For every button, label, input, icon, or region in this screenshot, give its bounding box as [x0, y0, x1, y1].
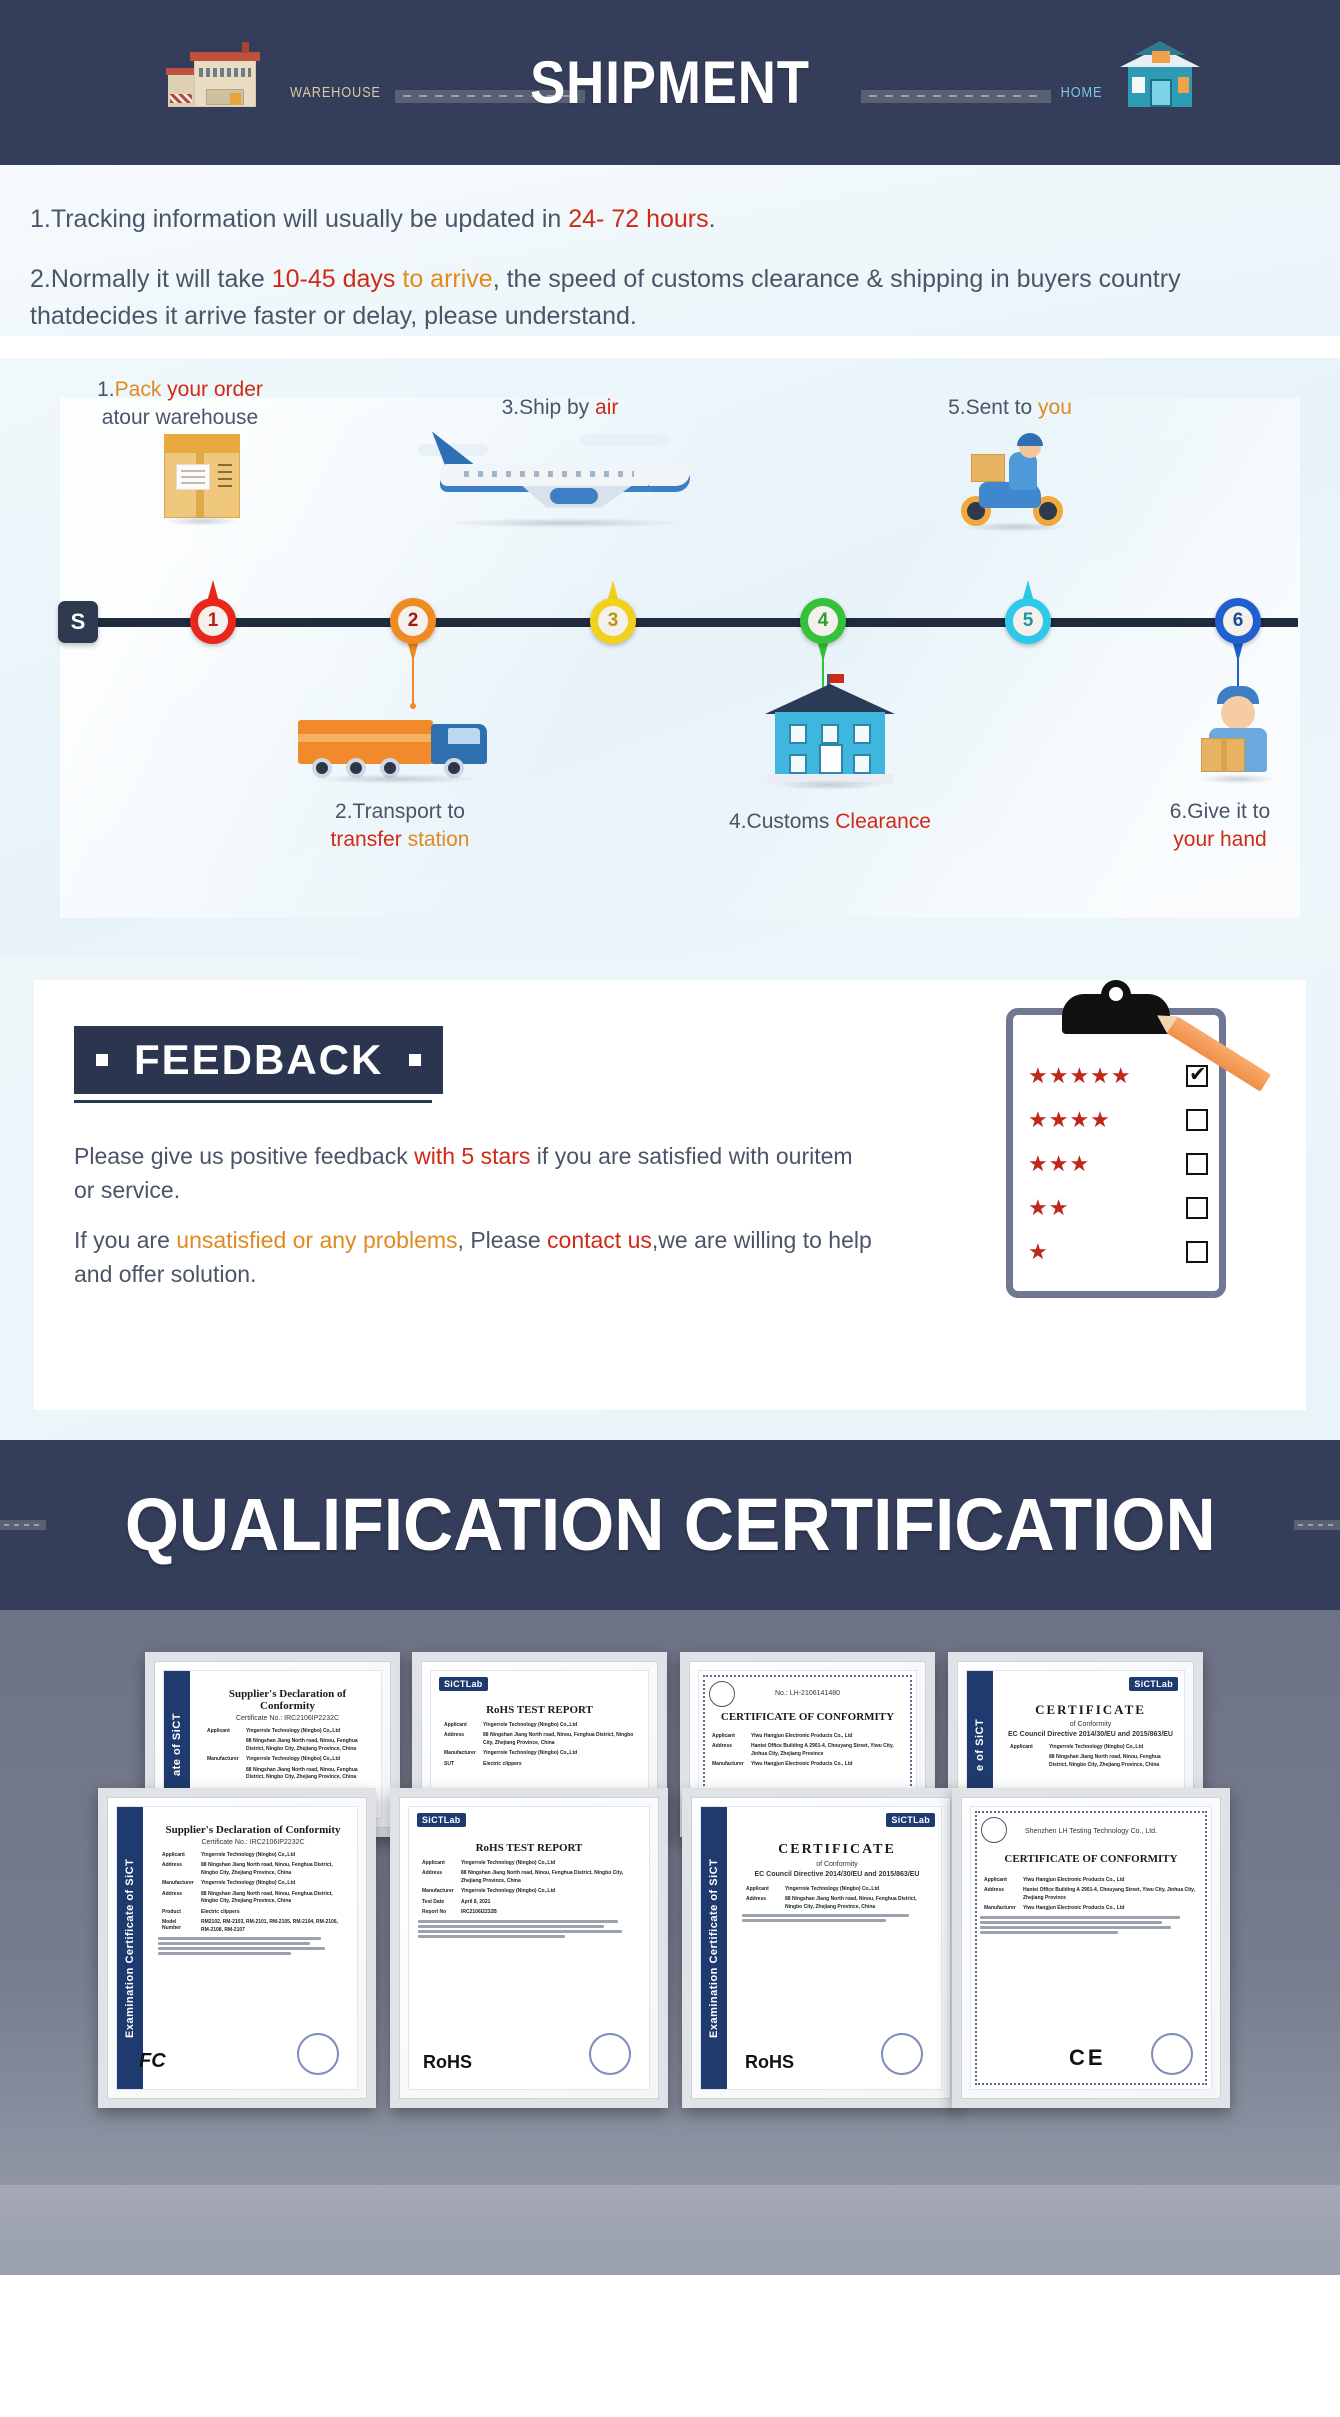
stars-2-icon: ★★ — [1028, 1195, 1069, 1221]
cert-key: Applicant — [444, 1722, 478, 1730]
feedback-card: FEEDBACK Please give us positive feedbac… — [34, 980, 1306, 1410]
truck-illustration — [298, 710, 493, 778]
delivery-text-prefix: 2.Normally it will take — [30, 265, 272, 293]
feedback-section: FEEDBACK Please give us positive feedbac… — [0, 958, 1340, 1440]
step-2-red: transfer — [331, 828, 402, 851]
step-2-label: 2.Transport to transfer station — [270, 798, 530, 855]
sictlab-logo: SiCTLab — [439, 1677, 488, 1691]
parcel-box-illustration — [160, 434, 244, 520]
home-label: HOME — [1061, 84, 1103, 101]
pin-2-number: 2 — [398, 606, 428, 636]
cert-value: April 8, 2021 — [461, 1899, 490, 1907]
feedback-underline — [74, 1100, 432, 1103]
cert-key — [207, 1767, 241, 1782]
feedback-paragraph-1: Please give us positive feedback with 5 … — [74, 1139, 874, 1207]
cert-heading: CERTIFICATE — [742, 1842, 932, 1858]
cert-key: Address — [162, 1891, 196, 1906]
cert-key: Applicant — [162, 1852, 196, 1860]
cert-key: Applicant — [422, 1860, 456, 1868]
shipping-info-section: 1.Tracking information will usually be u… — [0, 165, 1340, 336]
certificate-card[interactable]: Examination Certificate of SiCT SiCTLab … — [682, 1788, 960, 2108]
cert-value: Yingerrole Technology (Ningbo) Co,.Ltd — [483, 1722, 577, 1730]
cert-key: Manufacturer — [422, 1888, 456, 1896]
certificate-card[interactable]: SiCTLab RoHS TEST REPORT ApplicantYinger… — [390, 1788, 668, 2108]
step-6-red: your hand — [1120, 826, 1320, 854]
pin-3-number: 3 — [598, 606, 628, 636]
step-4-text: 4.Customs — [729, 810, 835, 833]
fb-p2-red: contact us — [547, 1227, 652, 1253]
timeline-pin-3[interactable]: 3 — [590, 598, 636, 644]
certificates-gallery: ate of SiCT Supplier's Declaration of Co… — [0, 1610, 1340, 2275]
cert-key: SUT — [444, 1761, 478, 1769]
fb-p2-a: If you are — [74, 1227, 176, 1253]
cert-directive: EC Council Directive 2014/30/EU and 2015… — [742, 1871, 932, 1878]
fb-p2-orange: unsatisfied or any problems — [176, 1227, 457, 1253]
tracking-info-line: 1.Tracking information will usually be u… — [30, 201, 1310, 239]
tracking-text-prefix: 1.Tracking information will usually be u… — [30, 205, 568, 233]
timeline-start-marker: S — [58, 601, 98, 643]
cert-key: Address — [444, 1732, 478, 1747]
feedback-banner: FEEDBACK — [74, 1026, 443, 1094]
cert-value: Yingerrole Technology (Ningbo) Co,.Ltd — [483, 1750, 577, 1758]
timeline-pin-6[interactable]: 6 — [1215, 598, 1261, 644]
delivery-arrive-highlight: to arrive — [395, 265, 492, 293]
rating-row[interactable]: ★★★★★ — [1028, 1054, 1208, 1098]
cert-key: Manufacturer — [207, 1756, 241, 1764]
sictlab-logo: SiCTLab — [886, 1813, 935, 1827]
cert-key: Test Date — [422, 1899, 456, 1907]
cert-heading: RoHS TEST REPORT — [418, 1842, 640, 1854]
cert-value: 88 Ningshan Jiang North road, Ninou, Fen… — [1049, 1754, 1171, 1769]
cert-key: Product — [162, 1909, 196, 1917]
step-5-label: 5.Sent to you — [880, 394, 1140, 422]
tracking-time-highlight: 24- 72 hours — [568, 205, 708, 233]
warehouse-icon — [168, 49, 276, 107]
rating-checkbox-3[interactable] — [1186, 1153, 1208, 1175]
tracking-text-suffix: . — [709, 205, 716, 233]
step-6-label: 6.Give it to your hand — [1120, 798, 1320, 855]
cert-seal-icon — [297, 2033, 339, 2075]
cert-value: 88 Ningshan Jiang North road, Ninou, Fen… — [785, 1896, 928, 1911]
rating-checkbox-4[interactable] — [1186, 1109, 1208, 1131]
cert-key: Applicant — [1010, 1744, 1044, 1752]
cert-value: 88 Ningshan Jiang North road, Ninou, Fen… — [201, 1891, 344, 1906]
timeline-pin-1[interactable]: 1 — [190, 598, 236, 644]
cert-heading: Supplier's Declaration of Conformity — [158, 1824, 348, 1836]
clipboard-clip-hole-icon — [1109, 987, 1123, 1001]
step-4-label: 4.Customs Clearance — [690, 808, 970, 836]
step-3-red: air — [595, 396, 618, 419]
cert-heading: CERTIFICATE — [1006, 1702, 1175, 1718]
timeline-track — [62, 618, 1298, 627]
step-3-label: 3.Ship by air — [440, 394, 680, 422]
cert-key — [207, 1738, 241, 1753]
cert-value: Yingerrole Technology (Ningbo) Co,.Ltd — [246, 1728, 340, 1736]
cert-key — [1010, 1754, 1044, 1769]
step-3-text: 3.Ship by — [502, 396, 595, 419]
rating-checkbox-2[interactable] — [1186, 1197, 1208, 1219]
cert-key: Address — [162, 1862, 196, 1877]
cert-seal-icon — [881, 2033, 923, 2075]
cert-subline: of Conformity — [1006, 1721, 1175, 1728]
feedback-paragraph-2: If you are unsatisfied or any problems, … — [74, 1223, 874, 1291]
cert-heading: RoHS TEST REPORT — [440, 1704, 639, 1716]
cert-value: 88 Ningshan Jiang North road, Ninou, Fen… — [201, 1862, 344, 1877]
page-title: SHIPMENT — [530, 48, 810, 117]
square-right-icon — [409, 1054, 421, 1066]
square-left-icon — [96, 1054, 108, 1066]
certificate-card[interactable]: Shenzhen LH Testing Technology Co., Ltd.… — [952, 1788, 1230, 2108]
fb-p2-b: , Please — [458, 1227, 548, 1253]
qualification-title: QUALIFICATION CERTIFICATION — [125, 1482, 1216, 1567]
cert-value: 88 Ningshan Jiang North road, Ninou, Fen… — [246, 1738, 368, 1753]
cert-value: IRC2106I2232B — [461, 1909, 497, 1917]
rating-checkbox-5[interactable] — [1186, 1065, 1208, 1087]
cert-key: Manufacturer — [444, 1750, 478, 1758]
stars-4-icon: ★★★★ — [1028, 1107, 1111, 1133]
rating-row[interactable]: ★★★ — [1028, 1142, 1208, 1186]
gallery-reflection — [0, 2185, 1340, 2275]
scooter-courier-illustration — [955, 430, 1075, 526]
step-5-text: 5.Sent to — [948, 396, 1038, 419]
rohs-mark: RoHS — [745, 2052, 794, 2073]
home-group: HOME — [861, 45, 1208, 107]
shipment-header-banner: WAREHOUSE SHIPMENT HOME — [0, 0, 1340, 165]
step-1-number: 1. — [97, 378, 115, 401]
step-1-orange: Pack — [115, 378, 162, 401]
cert-key: Applicant — [207, 1728, 241, 1736]
rating-rows: ★★★★★ ★★★★ ★★★ ★★ ★ — [1028, 1054, 1208, 1274]
road-right — [861, 90, 1051, 103]
cert-value: Yingerrole Technology (Ningbo) Co,.Ltd — [1049, 1744, 1143, 1752]
fb-p1-a: Please give us positive feedback — [74, 1143, 414, 1169]
step-1-red: your order — [161, 378, 263, 401]
cert-key: Applicant — [746, 1886, 780, 1894]
step-1-label: 1.Pack your order atour warehouse — [60, 376, 300, 433]
cert-value: Yingerrole Technology (Ningbo) Co,.Ltd — [461, 1888, 555, 1896]
customs-building-illustration — [765, 680, 895, 784]
cert-key: Model Number — [162, 1919, 196, 1934]
cert-value: Yingerrole Technology (Ningbo) Co,.Ltd — [461, 1860, 555, 1868]
step-6-line1: 6.Give it to — [1120, 798, 1320, 826]
timeline-pin-4[interactable]: 4 — [800, 598, 846, 644]
cert-value: Yingerrole Technology (Ningbo) Co,.Ltd — [201, 1852, 295, 1860]
cert-heading: Supplier's Declaration of Conformity — [203, 1688, 372, 1712]
cert-seal-icon — [1151, 2033, 1193, 2075]
cert-seal-icon — [589, 2033, 631, 2075]
cert-value: RM2102, RM-2103, RM-2101, RM-2105, RM-21… — [201, 1919, 344, 1934]
cert-value: 88 Ningshan Jiang North road, Ninou, Fen… — [483, 1732, 635, 1747]
pin-5-number: 5 — [1013, 606, 1043, 636]
cert-value: Yingerrole Technology (Ningbo) Co,.Ltd — [246, 1756, 340, 1764]
road-dash-right — [1294, 1520, 1340, 1530]
rating-row[interactable]: ★★★★ — [1028, 1098, 1208, 1142]
delivery-days-highlight: 10-45 days — [272, 265, 396, 293]
certificate-card[interactable]: Examination Certificate of SiCT Supplier… — [98, 1788, 376, 2108]
timeline-pin-5[interactable]: 5 — [1005, 598, 1051, 644]
ce-mark: CE — [1069, 2045, 1106, 2071]
warehouse-group: WAREHOUSE — [168, 49, 585, 107]
stars-5-icon: ★★★★★ — [1028, 1063, 1132, 1089]
cert-key: Manufacturer — [162, 1880, 196, 1888]
cert-value: Electric clippers — [483, 1761, 522, 1769]
stars-1-icon: ★ — [1028, 1239, 1049, 1265]
airplane-illustration — [430, 430, 700, 522]
warehouse-label: WAREHOUSE — [290, 84, 381, 101]
cert-key: Address — [746, 1896, 780, 1911]
sictlab-logo: SiCTLab — [417, 1813, 466, 1827]
cert-key: Report No — [422, 1909, 456, 1917]
sictlab-logo: SiCTLab — [1129, 1677, 1178, 1691]
qualification-banner: QUALIFICATION CERTIFICATION — [0, 1440, 1340, 1610]
cert-value: Yingerrole Technology (Ningbo) Co,.Ltd — [201, 1880, 295, 1888]
rating-row[interactable]: ★★ — [1028, 1186, 1208, 1230]
road-dash-left — [0, 1520, 46, 1530]
fb-p1-red: with 5 stars — [414, 1143, 530, 1169]
cert-value: 88 Ningshan Jiang North road, Ninou, Fen… — [246, 1767, 368, 1782]
pin-4-number: 4 — [808, 606, 838, 636]
rating-clipboard: ★★★★★ ★★★★ ★★★ ★★ ★ — [1006, 1008, 1226, 1298]
cert-sidebar-label: Examination Certificate of SiCT — [117, 1807, 143, 2089]
feedback-text-block: Please give us positive feedback with 5 … — [74, 1139, 874, 1291]
cert-key: Address — [422, 1870, 456, 1885]
rating-checkbox-1[interactable] — [1186, 1241, 1208, 1263]
rating-row[interactable]: ★ — [1028, 1230, 1208, 1274]
cert-subline: Certificate No.: IRC2106IP2232C — [158, 1839, 348, 1846]
pin-6-number: 6 — [1223, 606, 1253, 636]
step-1-line2: atour warehouse — [60, 404, 300, 432]
step-5-orange: you — [1038, 396, 1072, 419]
cert-sidebar-label: Examination Certificate of SiCT — [701, 1807, 727, 2089]
pin-1-number: 1 — [198, 606, 228, 636]
step-2-line1: 2.Transport to — [270, 798, 530, 826]
cert-value: Yingerrole Technology (Ningbo) Co,.Ltd — [785, 1886, 879, 1894]
step-4-red: Clearance — [835, 810, 931, 833]
timeline-pin-2[interactable]: 2 — [390, 598, 436, 644]
cert-subline: of Conformity — [742, 1861, 932, 1868]
fcc-mark: FC — [139, 2050, 166, 2073]
shipping-timeline: 1.Pack your order atour warehouse 3.Ship… — [0, 358, 1340, 958]
cert-value: 88 Ningshan Jiang North road, Ninou, Fen… — [461, 1870, 636, 1885]
cert-value: Electric clippers — [201, 1909, 240, 1917]
home-icon — [1112, 45, 1208, 107]
stars-3-icon: ★★★ — [1028, 1151, 1090, 1177]
delivery-man-illustration — [1195, 682, 1281, 778]
cert-directive: EC Council Directive 2014/30/EU and 2015… — [1006, 1731, 1175, 1738]
cert-subline: Certificate No.: IRC2106IP2232C — [203, 1715, 372, 1722]
step-2-orange: station — [402, 828, 470, 851]
feedback-title: FEEDBACK — [134, 1036, 383, 1084]
delivery-info-line: 2.Normally it will take 10-45 days to ar… — [30, 261, 1310, 336]
rohs-mark: RoHS — [423, 2052, 472, 2073]
